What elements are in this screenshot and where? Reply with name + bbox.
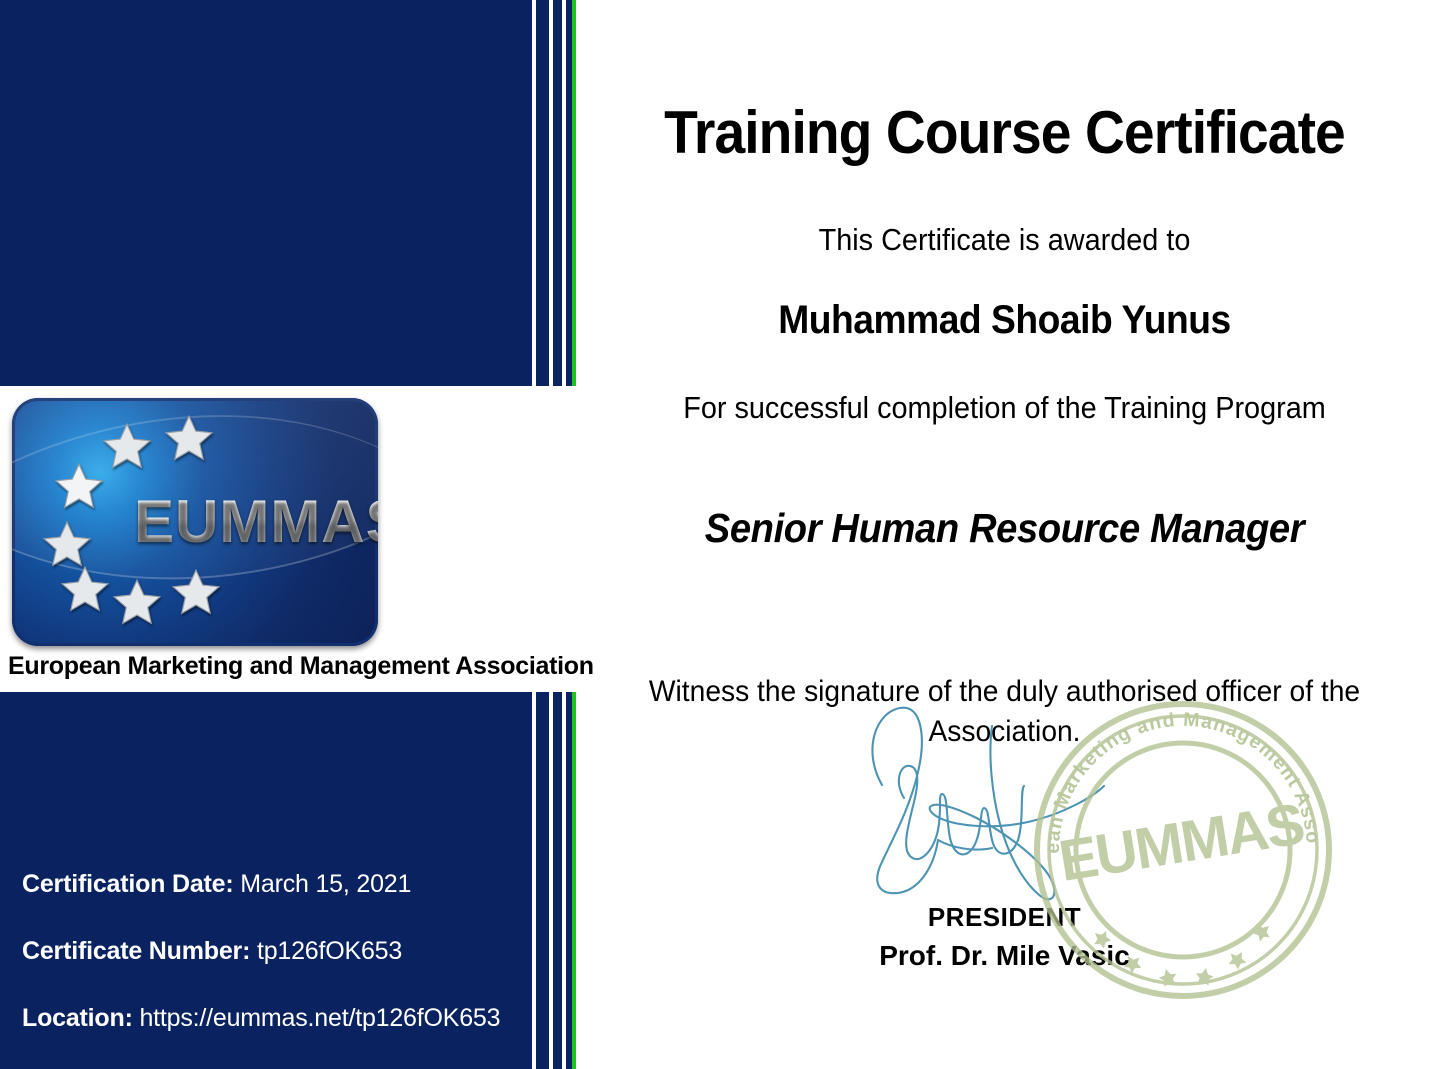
border-stripe-2 <box>553 0 562 386</box>
certificate-number-row: Certificate Number: tp126fOK653 <box>22 937 402 966</box>
awarded-to-label: This Certificate is awarded to <box>610 222 1400 258</box>
logo-badge-background: EUMMAS <box>12 398 378 646</box>
president-label: PRESIDENT <box>580 902 1429 933</box>
border-stripe-green-bottom <box>572 692 576 1069</box>
certificate-document: EUMMAS European Marketing and Management… <box>0 0 1429 1069</box>
certification-date-value: March 15, 2021 <box>240 870 411 898</box>
location-row: Location: https://eummas.net/tp126fOK653 <box>22 1004 500 1033</box>
president-name: Prof. Dr. Mile Vasic <box>580 940 1429 972</box>
witness-text: Witness the signature of the duly author… <box>624 672 1384 751</box>
left-panel-top <box>0 0 532 386</box>
border-stripe-5 <box>553 692 562 1069</box>
organization-name: European Marketing and Management Associ… <box>8 652 568 681</box>
logo-wordmark: EUMMAS <box>134 492 378 552</box>
recipient-name: Muhammad Shoaib Yunus <box>610 298 1400 343</box>
certificate-number-value: tp126fOK653 <box>257 937 402 965</box>
course-title: Senior Human Resource Manager <box>610 505 1400 552</box>
certification-date-row: Certification Date: March 15, 2021 <box>22 870 411 899</box>
eummas-logo: EUMMAS <box>12 398 378 646</box>
page-title: Training Course Certificate <box>614 98 1395 167</box>
completion-text: For successful completion of the Trainin… <box>610 390 1400 426</box>
certificate-body: Training Course Certificate This Certifi… <box>580 0 1429 1069</box>
certificate-number-label: Certificate Number: <box>22 937 250 965</box>
location-value[interactable]: https://eummas.net/tp126fOK653 <box>139 1004 500 1032</box>
border-stripe-green-top <box>572 0 576 386</box>
border-stripe-1 <box>536 0 549 386</box>
certification-date-label: Certification Date: <box>22 870 234 898</box>
border-stripe-4 <box>536 692 549 1069</box>
location-label: Location: <box>22 1004 133 1032</box>
